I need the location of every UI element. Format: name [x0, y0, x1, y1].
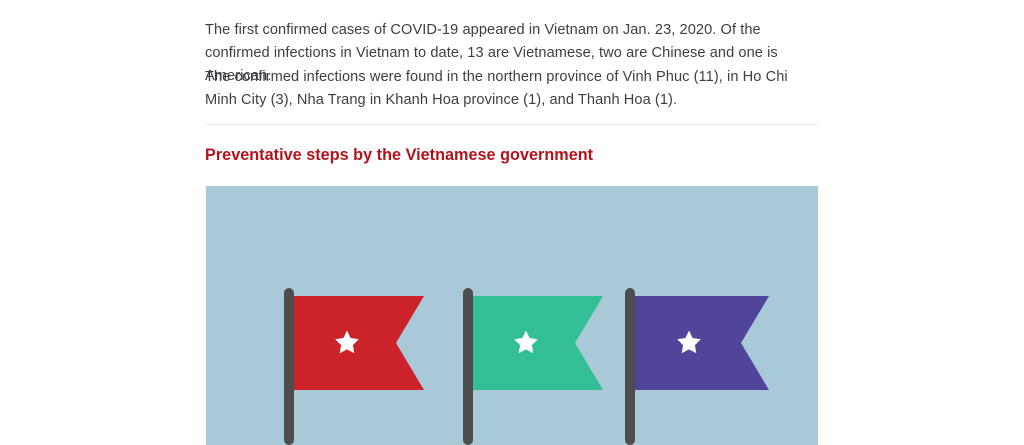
flags-illustration-svg — [206, 186, 818, 445]
section-divider — [205, 124, 818, 125]
three-flags-illustration — [206, 186, 818, 445]
article-content: The first confirmed cases of COVID-19 ap… — [205, 0, 818, 445]
paragraph-infection-locations: The confirmed infections were found in t… — [205, 66, 812, 112]
flag-pole-green — [463, 288, 473, 445]
section-heading-preventative-steps: Preventative steps by the Vietnamese gov… — [205, 145, 593, 165]
flag-pole-red — [284, 288, 294, 445]
flag-pole-purple — [625, 288, 635, 445]
